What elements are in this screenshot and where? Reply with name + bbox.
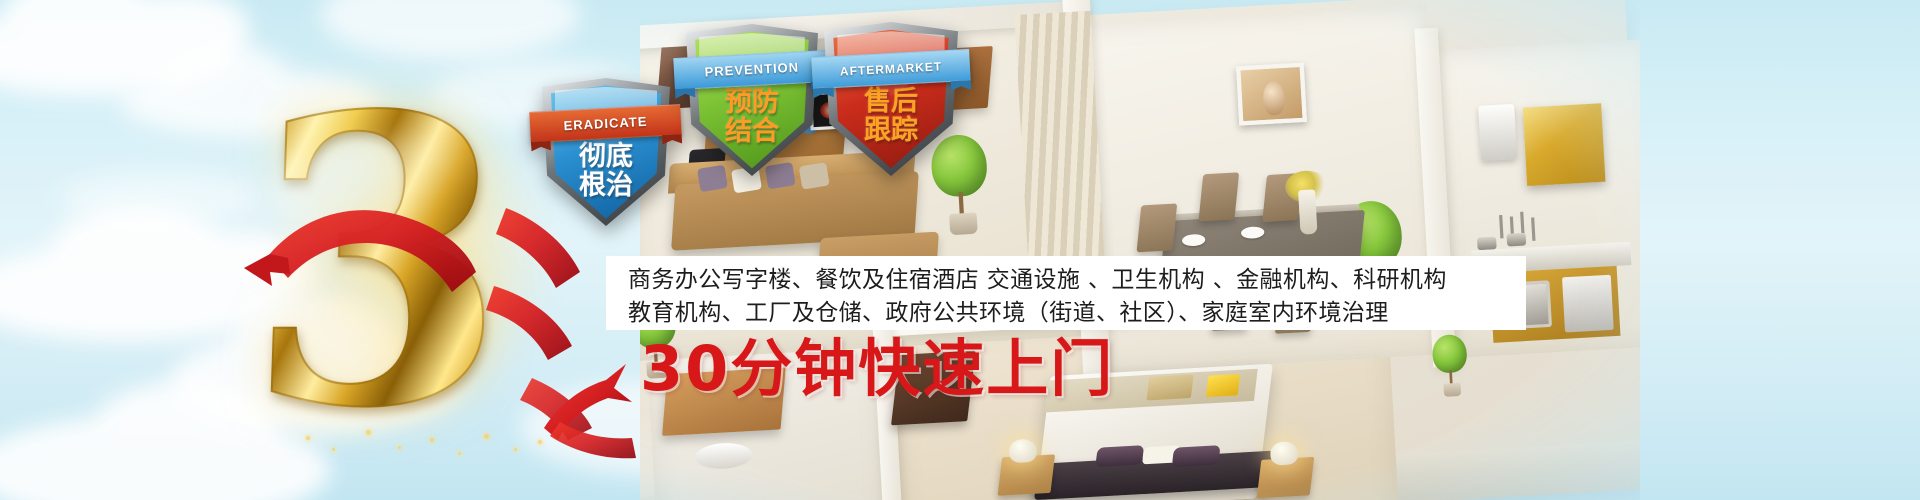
shield-chinese-text: 彻底 根治	[542, 143, 670, 200]
shield-badge-prevention[interactable]: 预防 结合 PREVENTION	[686, 24, 818, 176]
bed-pillow	[1095, 445, 1144, 467]
curtain	[1014, 11, 1105, 280]
shield-chinese-line-2: 结合	[686, 118, 818, 147]
shield-chinese-line-1: 预防	[686, 89, 818, 118]
shield-chinese-line-2: 跟踪	[824, 117, 958, 146]
bed-pillow	[1172, 445, 1221, 467]
numeral-3: 3	[244, 78, 509, 449]
shield-chinese-line-1: 售后	[824, 88, 958, 117]
shield-english-label: AFTERMARKET	[840, 59, 943, 78]
shield-badge-eradicate[interactable]: 彻底 根治 ERADICATE	[542, 78, 670, 226]
shield-english-label: PREVENTION	[704, 60, 799, 80]
shield-badge-aftermarket[interactable]: 售后 跟踪 AFTERMARKET	[824, 22, 958, 176]
gold-sparkles	[270, 408, 570, 468]
bed-tray	[1146, 374, 1193, 400]
shield-chinese-text: 售后 跟踪	[824, 88, 958, 145]
service-scope-panel: 商务办公写字楼、餐饮及住宿酒店 交通设施 、卫生机构 、金融机构、科研机构 教育…	[606, 256, 1526, 330]
shield-english-label: ERADICATE	[564, 113, 649, 132]
promo-banner: 3	[0, 0, 1920, 500]
cloud-decoration	[60, 170, 260, 226]
headline-text: 30分钟快速上门	[640, 338, 1114, 400]
table-lamp	[1270, 441, 1299, 466]
kitchen-upper-cabinet	[1523, 103, 1606, 186]
service-scope-line-2: 教育机构、工厂及仓储、政府公共环境（街道、社区）、家庭室内环境治理	[628, 297, 1526, 330]
table-lamp	[1008, 438, 1037, 463]
bed-yellow-cushion	[1206, 374, 1240, 397]
dining-chair	[1198, 172, 1239, 221]
framed-painting	[1236, 63, 1307, 126]
kitchen-appliance	[1562, 275, 1614, 333]
range-hood	[1478, 104, 1517, 161]
cookware	[1477, 237, 1497, 251]
flower-vase	[1298, 189, 1317, 234]
shield-chinese-line-2: 根治	[542, 172, 670, 201]
cookware	[1506, 233, 1526, 247]
shield-chinese-line-1: 彻底	[542, 143, 670, 172]
shield-chinese-text: 预防 结合	[686, 89, 818, 146]
service-scope-line-1: 商务办公写字楼、餐饮及住宿酒店 交通设施 、卫生机构 、金融机构、科研机构	[628, 264, 1526, 297]
dining-chair	[1136, 203, 1177, 252]
